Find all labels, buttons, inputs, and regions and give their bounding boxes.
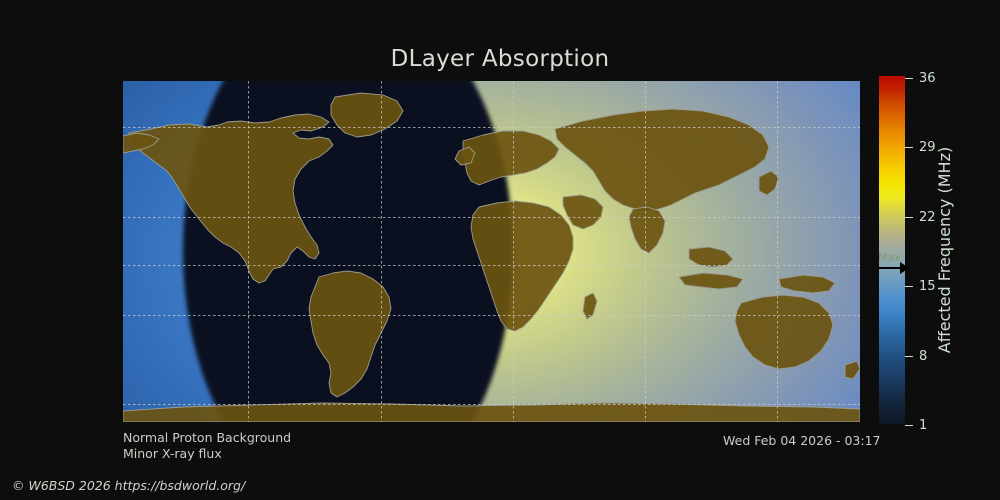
landmass-japan — [759, 171, 779, 195]
page-title: DLayer Absorption — [0, 46, 1000, 72]
colorbar[interactable] — [879, 76, 905, 424]
colorbar-axis-label: Affected Frequency (MHz) — [930, 76, 960, 424]
landmass-north-america — [129, 114, 333, 283]
landmass-madagascar — [583, 293, 597, 319]
colorbar-tick-8: 8 — [905, 350, 927, 363]
landmass-indonesia — [679, 273, 743, 289]
landmass-south-america — [309, 271, 391, 397]
max-marker-label: Max — [878, 252, 901, 263]
arrow-right-head-icon — [900, 262, 909, 274]
landmass-africa — [471, 201, 573, 331]
tick-dash-icon — [905, 78, 913, 79]
landmass-antarctica — [123, 403, 860, 422]
tick-dash-icon — [905, 217, 913, 218]
colorbar-max-marker: Max — [877, 252, 927, 274]
timestamp-label: Wed Feb 04 2026 - 03:17 — [723, 433, 881, 448]
dlayer-absorption-map-page: DLayer Absorption — [0, 0, 1000, 500]
world-map[interactable] — [123, 81, 860, 422]
tick-dash-icon — [905, 425, 913, 426]
landmass-australia — [735, 295, 833, 369]
landmass-india — [629, 207, 665, 253]
xray-flux-note: Minor X-ray flux — [123, 446, 291, 462]
copyright-notice: © W6BSD 2026 https://bsdworld.org/ — [12, 478, 245, 493]
space-weather-notes: Normal Proton Background Minor X-ray flu… — [123, 430, 291, 462]
landmass-new-guinea — [779, 275, 835, 293]
landmass-europe — [463, 131, 559, 185]
arrow-right-icon — [878, 267, 902, 269]
colorbar-gradient — [879, 76, 905, 424]
proton-background-note: Normal Proton Background — [123, 430, 291, 446]
landmass-arabia — [563, 195, 603, 229]
continents-layer — [123, 81, 860, 422]
tick-dash-icon — [905, 286, 913, 287]
colorbar-tick-1: 1 — [905, 419, 927, 432]
landmass-greenland — [331, 93, 403, 137]
tick-dash-icon — [905, 147, 913, 148]
tick-dash-icon — [905, 356, 913, 357]
landmass-southeast-asia — [689, 247, 733, 267]
landmass-new-zealand — [845, 361, 860, 379]
landmass-asia — [555, 109, 769, 211]
